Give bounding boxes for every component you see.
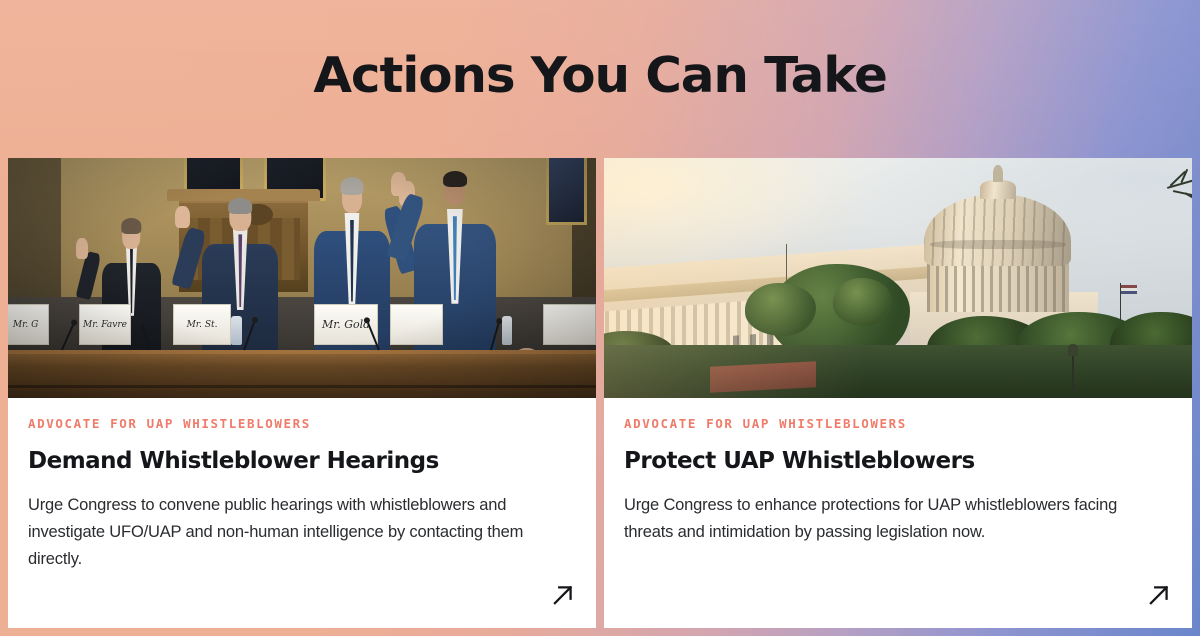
card-eyebrow: ADVOCATE FOR UAP WHISTLEBLOWERS bbox=[624, 416, 1172, 431]
card-title: Demand Whistleblower Hearings bbox=[28, 448, 576, 474]
card-description: Urge Congress to convene public hearings… bbox=[28, 492, 573, 572]
action-card-demand-whistleblower-hearings[interactable]: Mr. G Mr. Favre Mr. St. Mr. Gold ADVOCAT… bbox=[8, 158, 596, 628]
card-body: ADVOCATE FOR UAP WHISTLEBLOWERS Demand W… bbox=[8, 398, 596, 628]
card-body: ADVOCATE FOR UAP WHISTLEBLOWERS Protect … bbox=[604, 398, 1192, 628]
page-title: Actions You Can Take bbox=[313, 51, 886, 100]
arrow-up-right-icon[interactable] bbox=[550, 582, 576, 608]
hearing-illustration: Mr. G Mr. Favre Mr. St. Mr. Gold bbox=[8, 158, 596, 398]
card-image-hearing: Mr. G Mr. Favre Mr. St. Mr. Gold bbox=[8, 158, 596, 398]
card-image-capitol bbox=[604, 158, 1192, 398]
capitol-illustration bbox=[604, 158, 1192, 398]
card-description: Urge Congress to enhance protections for… bbox=[624, 492, 1169, 545]
arrow-up-right-icon[interactable] bbox=[1146, 582, 1172, 608]
card-eyebrow: ADVOCATE FOR UAP WHISTLEBLOWERS bbox=[28, 416, 576, 431]
page-header: Actions You Can Take bbox=[0, 0, 1200, 150]
action-card-protect-uap-whistleblowers[interactable]: ADVOCATE FOR UAP WHISTLEBLOWERS Protect … bbox=[604, 158, 1192, 628]
card-title: Protect UAP Whistleblowers bbox=[624, 448, 1172, 474]
action-cards-grid: Mr. G Mr. Favre Mr. St. Mr. Gold ADVOCAT… bbox=[8, 158, 1192, 628]
